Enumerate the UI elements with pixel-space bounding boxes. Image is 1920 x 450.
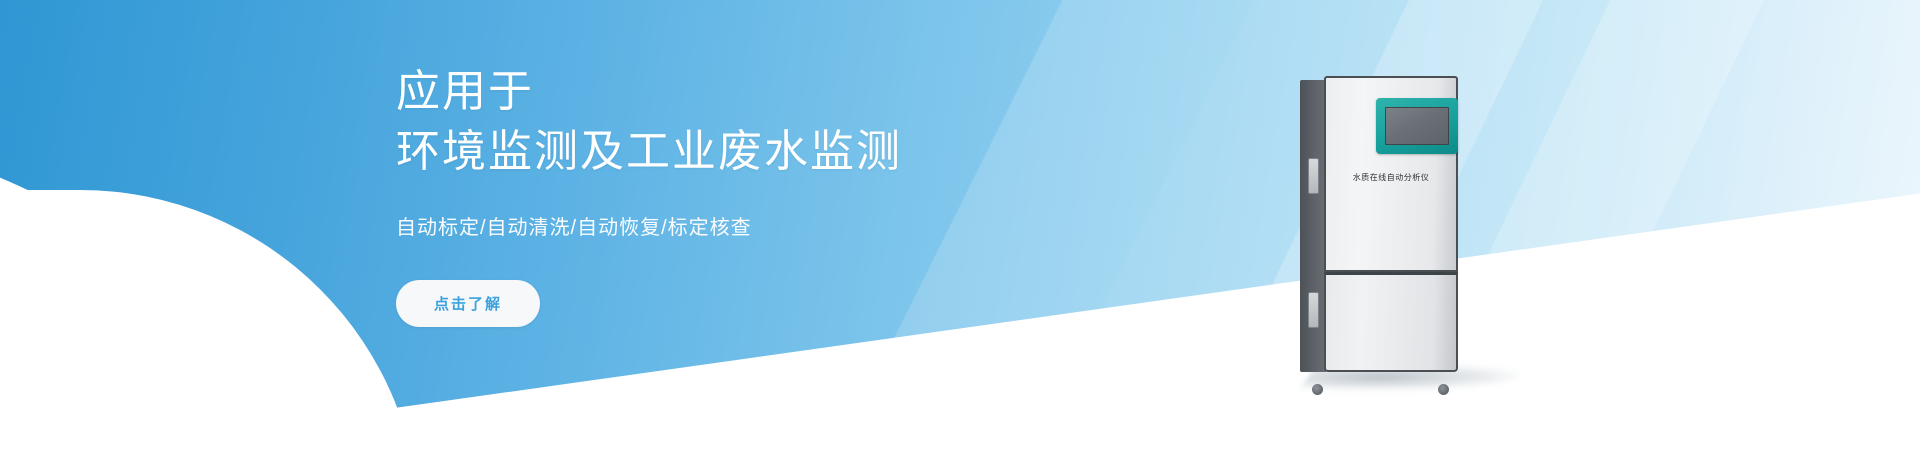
learn-more-button[interactable]: 点击了解 bbox=[396, 280, 540, 327]
cabinet-caster-right-icon bbox=[1438, 384, 1449, 395]
hero-banner: 应用于 环境监测及工业废水监测 自动标定/自动清洗/自动恢复/标定核查 点击了解… bbox=[0, 0, 1920, 450]
cabinet-caster-left-icon bbox=[1312, 384, 1323, 395]
headline-line-2: 环境监测及工业废水监测 bbox=[396, 122, 1036, 182]
headline-line-1: 应用于 bbox=[396, 62, 1036, 122]
product-label-text: 水质在线自动分析仪 bbox=[1324, 172, 1458, 183]
product-image-water-analyzer: 水质在线自动分析仪 bbox=[1300, 76, 1480, 386]
cabinet-handle-upper-icon bbox=[1308, 158, 1319, 194]
hero-subtitle: 自动标定/自动清洗/自动恢复/标定核查 bbox=[396, 211, 1036, 240]
cabinet-handle-lower-icon bbox=[1308, 292, 1319, 328]
page-title: 应用于 环境监测及工业废水监测 bbox=[396, 62, 1036, 183]
analyzer-cabinet: 水质在线自动分析仪 bbox=[1300, 76, 1480, 386]
hero-copy-block: 应用于 环境监测及工业废水监测 自动标定/自动清洗/自动恢复/标定核查 点击了解 bbox=[396, 62, 1036, 327]
analyzer-screen-bezel bbox=[1376, 98, 1458, 154]
analyzer-screen bbox=[1385, 107, 1449, 145]
cabinet-side-panel bbox=[1300, 80, 1326, 372]
cabinet-lower-door bbox=[1324, 272, 1458, 372]
